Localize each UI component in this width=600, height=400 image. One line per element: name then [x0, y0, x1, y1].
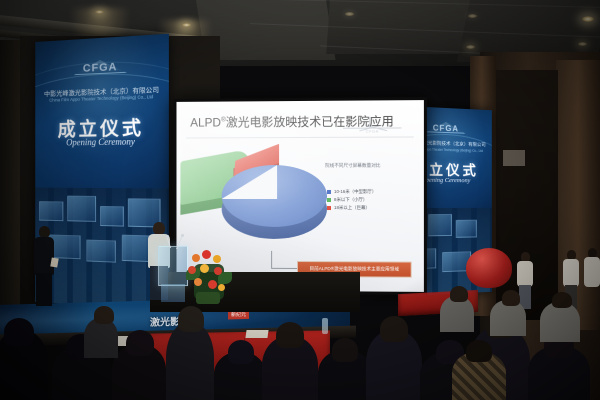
banner-photo — [456, 220, 477, 238]
audience-head — [552, 292, 572, 308]
slide-title-brand: ALPD — [190, 115, 221, 129]
audience-member — [166, 322, 214, 400]
microphone-head-icon — [181, 234, 184, 237]
audience-head — [276, 322, 304, 348]
banner-photo — [39, 201, 63, 221]
flower — [218, 284, 225, 291]
audience-head — [466, 340, 492, 362]
pie-slice-blue — [178, 141, 327, 142]
downlight — [182, 23, 191, 27]
downlight — [578, 42, 587, 46]
legend-swatch-blue — [327, 190, 331, 194]
legend-label: 18米以上（巨幕） — [334, 205, 370, 211]
water-bottle — [322, 318, 328, 334]
audience-head — [502, 290, 520, 306]
audience-head — [94, 306, 114, 324]
callout-leader-line — [271, 251, 297, 269]
downlight — [468, 14, 477, 18]
legend-heading: 院线不同尺寸屏幕数量对比 — [325, 163, 380, 169]
chart-legend: 10-16米（中型影厅） 8米以下（小厅） 18米以上（巨幕） — [327, 189, 376, 213]
person-standing-left — [32, 226, 58, 304]
flower — [200, 264, 209, 273]
flower — [208, 280, 217, 289]
wall-sign — [503, 150, 525, 166]
audience-head — [380, 316, 408, 342]
banner-event-en: Opening Ceremony — [35, 136, 169, 148]
legend-label: 8米以下（小厅） — [334, 197, 367, 203]
flower-arrangement — [184, 248, 232, 300]
audience-head — [228, 340, 254, 364]
microphone-head-icon — [166, 235, 169, 238]
flower — [202, 250, 211, 259]
audience-head — [126, 330, 154, 356]
person-top — [517, 261, 533, 287]
flower-basket — [196, 292, 220, 304]
legend-item: 10-16米（中型影厅） — [327, 189, 376, 195]
watermark-text: CFGA — [343, 128, 402, 133]
banner-photo — [67, 196, 96, 222]
legend-item: 18米以上（巨幕） — [327, 205, 376, 211]
audience-head — [4, 318, 34, 346]
audience-head — [450, 286, 468, 302]
legend-label: 10-16米（中型影厅） — [334, 189, 376, 195]
audience-member — [84, 318, 118, 358]
person-suit — [34, 237, 54, 275]
legend-swatch-green — [327, 198, 331, 202]
banner-photo — [428, 214, 452, 236]
legend-item: 8米以下（小厅） — [327, 197, 376, 203]
pie-slice-red — [178, 141, 327, 142]
person-standing-right — [584, 248, 600, 308]
flower — [214, 267, 222, 275]
audience-head — [332, 338, 358, 362]
flower — [188, 266, 196, 274]
red-decoration — [466, 248, 512, 288]
audience-head — [178, 306, 204, 332]
flower — [213, 255, 221, 263]
downlight — [345, 12, 354, 16]
flower — [192, 254, 200, 262]
audience-member — [540, 302, 580, 342]
person-trousers — [36, 273, 52, 306]
podium-base — [161, 284, 185, 302]
downlight — [466, 45, 475, 49]
person-papers — [50, 257, 58, 267]
person-top — [584, 257, 600, 287]
flower — [194, 278, 202, 286]
downlight — [95, 10, 104, 14]
banner-photo — [100, 206, 124, 227]
legend-swatch-red — [327, 206, 331, 210]
person-top — [563, 259, 579, 287]
document-on-table — [245, 330, 268, 338]
pie-slice-green — [178, 141, 327, 142]
photo-scene: CFGA 中影光峰激光影院技术（北京）有限公司 China Film Appo … — [0, 0, 600, 400]
slide-divider — [186, 136, 413, 138]
banner-photo — [86, 240, 115, 263]
slide-watermark: CFGA — [343, 116, 402, 134]
downlight — [582, 16, 594, 22]
